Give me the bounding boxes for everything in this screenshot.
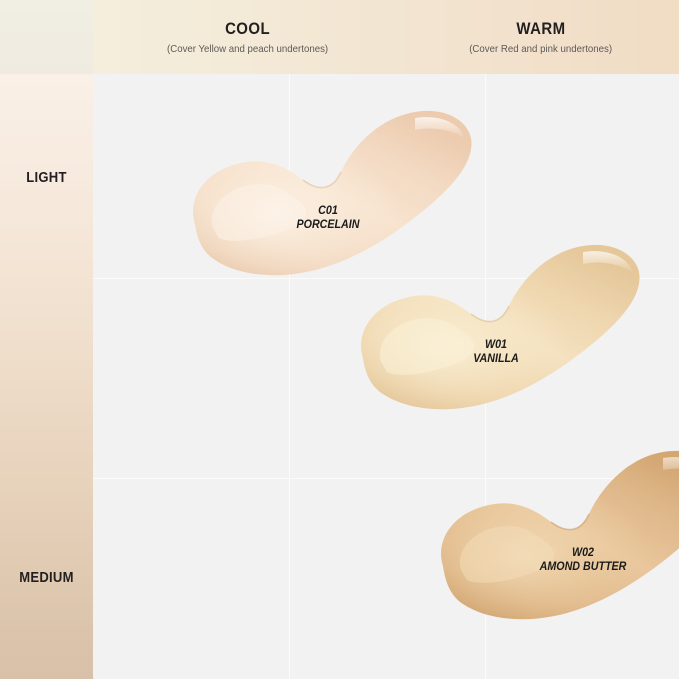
undertone-title-warm: WARM <box>516 20 565 37</box>
depth-label-light: LIGHT <box>5 171 89 186</box>
undertone-column-warm: WARM (Cover Red and pink undertones) <box>403 0 679 74</box>
plot-area: C01 PORCELAIN <box>93 74 679 679</box>
undertone-title-cool: COOL <box>226 20 271 37</box>
depth-label-medium: MEDIUM <box>5 571 89 586</box>
undertone-axis-header: COOL (Cover Yellow and peach undertones)… <box>93 0 679 74</box>
shade-matrix-chart: COOL (Cover Yellow and peach undertones)… <box>0 0 679 679</box>
swatch-w02-amond-butter[interactable]: W02 AMOND BUTTER <box>431 444 679 629</box>
chart-corner-cell <box>0 0 93 74</box>
undertone-subtitle-warm: (Cover Red and pink undertones) <box>470 44 613 55</box>
depth-axis-gradient-strip <box>0 74 93 679</box>
undertone-column-cool: COOL (Cover Yellow and peach undertones) <box>93 0 403 74</box>
swatch-w01-vanilla[interactable]: W01 VANILLA <box>351 240 641 420</box>
undertone-subtitle-cool: (Cover Yellow and peach undertones) <box>167 44 328 55</box>
